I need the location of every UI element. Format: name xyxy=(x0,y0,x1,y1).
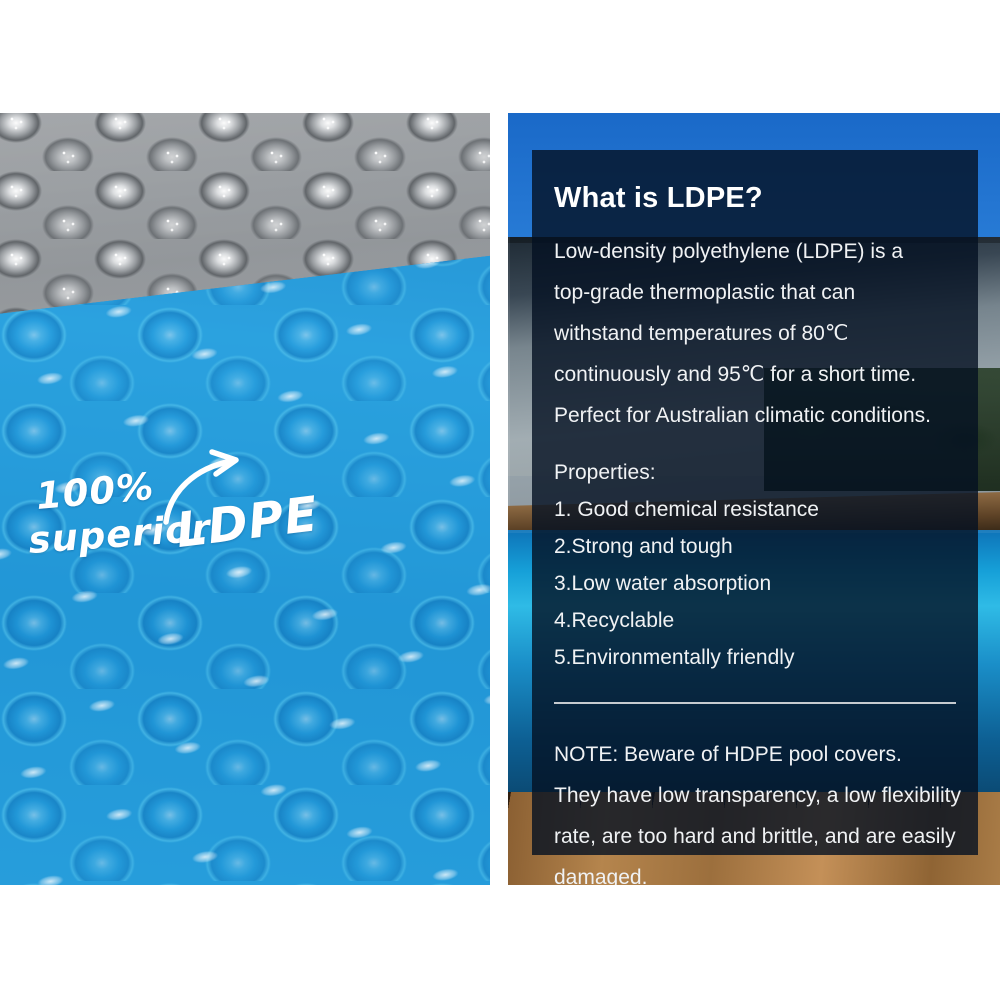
section-divider xyxy=(554,702,956,704)
intro-line: Low-density polyethylene (LDPE) is a xyxy=(554,231,956,272)
intro-line: Perfect for Australian climatic conditio… xyxy=(554,395,956,436)
list-item: 1. Good chemical resistance xyxy=(554,491,956,528)
intro-paragraph: Low-density polyethylene (LDPE) is a top… xyxy=(554,231,956,436)
note-line: damaged. xyxy=(554,857,956,885)
note-line: They have low transparency, a low flexib… xyxy=(554,775,956,816)
bubble-sheet-photo-panel: 100% superior LDPE xyxy=(0,113,490,885)
note-line: rate, are too hard and brittle, and are … xyxy=(554,816,956,857)
intro-line: continuously and 95℃ for a short time. xyxy=(554,354,956,395)
pool-photo-panel: What is LDPE? Low-density polyethylene (… xyxy=(508,113,1000,885)
list-item: 2.Strong and tough xyxy=(554,528,956,565)
page-title: What is LDPE? xyxy=(554,182,956,215)
note-paragraph: NOTE: Beware of HDPE pool covers. They h… xyxy=(554,734,956,885)
section-spacer xyxy=(554,436,956,454)
list-item: 4.Recyclable xyxy=(554,602,956,639)
intro-line: top-grade thermoplastic that can xyxy=(554,272,956,313)
properties-list: 1. Good chemical resistance 2.Strong and… xyxy=(554,491,956,676)
note-line: NOTE: Beware of HDPE pool covers. xyxy=(554,734,956,775)
info-text-overlay: What is LDPE? Low-density polyethylene (… xyxy=(532,150,978,855)
properties-heading: Properties: xyxy=(554,454,956,491)
intro-line: withstand temperatures of 80℃ xyxy=(554,313,956,354)
product-infographic: 100% superior LDPE What is LDPE? Low-den… xyxy=(0,0,1000,1000)
list-item: 5.Environmentally friendly xyxy=(554,639,956,676)
list-item: 3.Low water absorption xyxy=(554,565,956,602)
